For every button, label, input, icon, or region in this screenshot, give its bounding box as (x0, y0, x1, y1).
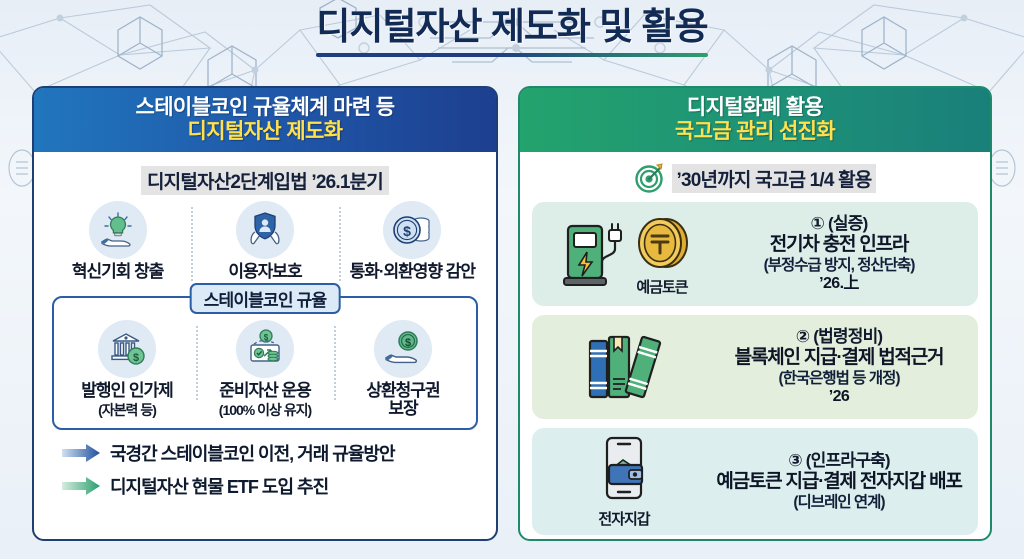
left-icon-item-innovation[interactable]: 혁신기회 창출 (44, 201, 191, 282)
left-icon-label: 이용자보호 (191, 263, 338, 282)
right-card-main: 전기차 충전 인프라 (708, 234, 970, 256)
right-card-text: ③ (인프라구축) 예금토큰 지급·결제 전자지갑 배포 (디브레인 연계) (708, 451, 970, 512)
right-card-art-caption: 전자지갑 (598, 508, 649, 529)
right-card-main: 예금토큰 지급·결제 전자지갑 배포 (708, 471, 970, 493)
right-card-art: 예금토큰 (540, 212, 708, 297)
gold-coin-icon (632, 212, 692, 274)
books-icon (576, 329, 672, 405)
left-arrow-text: 디지털자산 현물 ETF 도입 추진 (110, 473, 328, 499)
svg-text:$: $ (405, 337, 411, 349)
left-top-icon-row: 혁신기회 창출 이용자보호 (44, 201, 486, 282)
bank-coin-icon: $ (98, 320, 156, 378)
right-card-wallet-distribution[interactable]: 전자지갑 ③ (인프라구축) 예금토큰 지급·결제 전자지갑 배포 (디브레인 … (532, 428, 978, 535)
right-header-line1: 디지털화폐 활용 (687, 96, 823, 120)
regulation-item-redemption-right[interactable]: $ 상환청구권 보장 (334, 320, 472, 419)
svg-text:$: $ (403, 223, 411, 239)
hand-coin-icon: $ (374, 320, 432, 378)
left-panel-body: 디지털자산2단계입법 ’26.1분기 (34, 152, 496, 499)
regulation-item-sub: (100% 이상 유지) (196, 400, 334, 420)
right-card-art (540, 329, 708, 405)
right-panel-body: ’30년까지 국고금 1/4 활용 (520, 152, 990, 535)
regulation-item-label: 상환청구권 (334, 382, 472, 401)
regulation-item-issuer-license[interactable]: $ 발행인 인가제 (자본력 등) (58, 320, 196, 421)
regulation-item-label: 발행인 인가제 (58, 382, 196, 401)
target-arrow-icon (634, 162, 666, 194)
dollar-coin-stack-icon: $ (383, 201, 441, 259)
right-card-text: ① (실증) 전기차 충전 인프라 (부정수급 방지, 정산단축) ’26.上 (708, 214, 970, 294)
right-goal-text: ’30년까지 국고금 1/4 활용 (672, 164, 877, 193)
left-icon-label: 통화·외환영향 감안 (339, 263, 486, 282)
right-card-note: (한국은행법 등 개정) (708, 370, 970, 388)
regulation-item-sub: (자본력 등) (58, 400, 196, 420)
right-card-art: 전자지갑 (540, 434, 708, 529)
wallet-art: 전자지갑 (593, 434, 655, 529)
left-icon-item-user-protection[interactable]: 이용자보호 (191, 201, 338, 282)
right-card-ev-charging[interactable]: 예금토큰 ① (실증) 전기차 충전 인프라 (부정수급 방지, 정산단축) ’… (532, 202, 978, 306)
right-card-number: ① (실증) (708, 214, 970, 234)
hand-lightbulb-icon (89, 201, 147, 259)
green-arrow-icon (62, 476, 102, 496)
left-icon-item-fx-impact[interactable]: $ 통화·외환영향 감안 (339, 201, 486, 282)
left-panel-header: 스테이블코인 규율체계 마련 등 디지털자산 제도화 (34, 88, 496, 152)
left-arrow-text: 국경간 스테이블코인 이전, 거래 규율방안 (110, 440, 395, 466)
right-card-number: ② (법령정비) (708, 327, 970, 347)
blue-arrow-icon (62, 443, 102, 463)
left-header-line1: 스테이블코인 규율체계 마련 등 (135, 96, 394, 120)
left-arrow-item-cross-border[interactable]: 국경간 스테이블코인 이전, 거래 규율방안 (62, 440, 486, 466)
left-panel: 스테이블코인 규율체계 마련 등 디지털자산 제도화 디지털자산2단계입법 ’2… (32, 86, 498, 541)
shield-person-icon (236, 201, 294, 259)
right-card-text: ② (법령정비) 블록체인 지급·결제 법적근거 (한국은행법 등 개정) ’2… (708, 327, 970, 407)
left-arrow-item-spot-etf[interactable]: 디지털자산 현물 ETF 도입 추진 (62, 473, 486, 499)
right-card-art-caption: 예금토큰 (636, 276, 687, 297)
left-header-line2: 디지털자산 제도화 (188, 120, 343, 144)
right-card-main: 블록체인 지급·결제 법적근거 (708, 347, 970, 369)
svg-text:$: $ (133, 352, 139, 364)
stablecoin-regulation-box: 스테이블코인 규율 (52, 296, 478, 431)
regulation-item-label: 준비자산 운용 (196, 382, 334, 401)
left-arrow-list: 국경간 스테이블코인 이전, 거래 규율방안 디지털자산 현물 ETF 도입 추… (62, 440, 486, 499)
right-card-legal-basis[interactable]: ② (법령정비) 블록체인 지급·결제 법적근거 (한국은행법 등 개정) ’2… (532, 315, 978, 419)
right-card-date: ’26 (708, 388, 970, 407)
regulation-icon-row: $ 발행인 인가제 (자본력 등) $ (58, 320, 472, 421)
regulation-item-sub: 보장 (334, 400, 472, 419)
right-card-number: ③ (인프라구축) (708, 451, 970, 471)
right-card-note: (디브레인 연계) (708, 494, 970, 512)
right-card-note: (부정수급 방지, 정산단축) (708, 257, 970, 275)
right-panel: 디지털화폐 활용 국고금 관리 선진화 ’30년까지 국고금 1/4 활용 (518, 86, 992, 541)
right-card-date: ’26.上 (708, 275, 970, 294)
page-title: 디지털자산 제도화 및 활용 (0, 6, 1024, 49)
right-header-line2: 국고금 관리 선진화 (675, 120, 835, 144)
page-title-block: 디지털자산 제도화 및 활용 (0, 6, 1024, 57)
regulation-item-reserve-asset[interactable]: $ (196, 320, 334, 421)
title-underline (316, 53, 708, 57)
left-icon-label: 혁신기회 창출 (44, 263, 191, 282)
right-panel-header: 디지털화폐 활용 국고금 관리 선진화 (520, 88, 990, 152)
right-goal-row: ’30년까지 국고금 1/4 활용 (532, 162, 978, 194)
ev-charger-icon (556, 214, 628, 294)
left-subtitle-row: 디지털자산2단계입법 ’26.1분기 (44, 166, 486, 195)
stablecoin-regulation-tab-label: 스테이블코인 규율 (190, 283, 341, 314)
deposit-token-art: 예금토큰 (632, 212, 692, 297)
left-subtitle: 디지털자산2단계입법 ’26.1분기 (141, 166, 389, 195)
reserve-asset-icon: $ (236, 320, 294, 378)
mobile-wallet-icon (593, 434, 655, 506)
